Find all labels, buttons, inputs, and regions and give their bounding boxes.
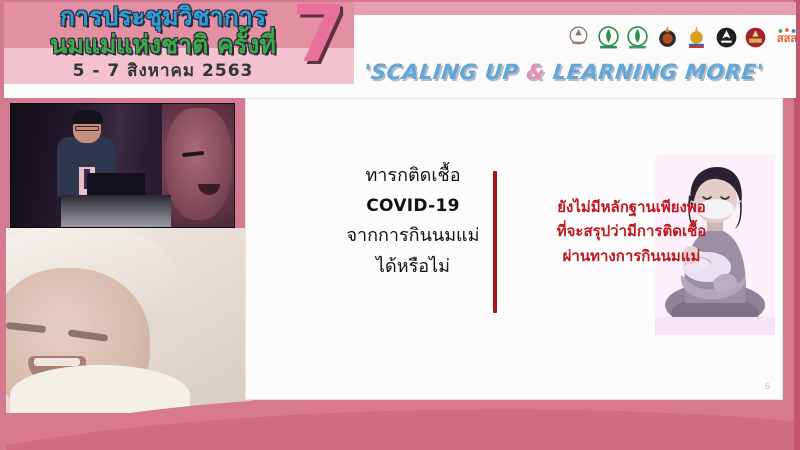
red-seal-logo <box>743 25 768 50</box>
red-vertical-divider <box>493 171 497 313</box>
banner-bottom-white <box>4 84 796 98</box>
answer-line-3: ผ่านทางการกินนมแม่ <box>504 244 759 268</box>
thaihealth-sss-logo: สสส <box>773 25 796 50</box>
presenter-hair <box>71 110 103 124</box>
question-line-1: ทารกติดเชื้อ <box>318 161 508 192</box>
slide-content: ทารกติดเชื้อ COVID-19 จากการกินนมแม่ ได้… <box>246 99 782 399</box>
organizer-logos-row: สสส <box>566 21 796 53</box>
presentation-slide: ทารกติดเชื้อ COVID-19 จากการกินนมแม่ ได้… <box>245 98 783 400</box>
conference-slogan: 'SCALING UP & LEARNING MORE' <box>363 60 796 84</box>
question-line-2: COVID-19 <box>318 192 508 221</box>
question-line-4: ได้หรือไม่ <box>318 252 508 283</box>
garuda-black-logo <box>714 25 739 50</box>
conference-title-line2: นมแม่แห่งชาติ ครั้งที่ <box>18 32 308 58</box>
conference-header-banner: 7 การประชุมวิชาการ นมแม่แห่งชาติ ครั้งที… <box>4 2 796 98</box>
slide-answer-text: ยังไม่มีหลักฐานเพียงพอ ที่จะสรุปว่ามีการ… <box>504 195 759 268</box>
answer-line-1: ยังไม่มีหลักฐานเพียงพอ <box>504 195 759 219</box>
answer-line-2: ที่จะสรุปว่ามีการติดเชื้อ <box>504 219 759 243</box>
speaker-podium <box>61 195 171 227</box>
conference-date: 5 - 7 สิงหาคม 2563 <box>18 63 308 81</box>
slide-question-text: ทารกติดเชื้อ COVID-19 จากการกินนมแม่ ได้… <box>318 161 508 283</box>
slide-page-number: 6 <box>765 382 770 391</box>
projected-baby-face <box>166 108 232 220</box>
conference-title-line1: การประชุมวิชาการ <box>18 4 308 30</box>
slogan-part-2: LEARNING MORE' <box>544 60 765 84</box>
royal-emblem-logo <box>566 25 591 50</box>
ministry-public-health-logo <box>596 25 621 50</box>
presenter-glasses <box>75 126 99 131</box>
conference-title-block: การประชุมวิชาการ นมแม่แห่งชาติ ครั้งที่ … <box>18 4 308 80</box>
svg-text:สสส: สสส <box>777 32 796 45</box>
royal-crown-logo <box>684 25 709 50</box>
slide-screenshot: 7 การประชุมวิชาการ นมแม่แห่งชาติ ครั้งที… <box>0 0 800 450</box>
presenter-video-feed[interactable] <box>10 103 235 228</box>
institute-seal-logo <box>655 25 680 50</box>
slogan-part-1: 'SCALING UP <box>363 60 528 84</box>
thai-breastfeeding-center-logo <box>625 25 650 50</box>
question-line-3: จากการกินนมแม่ <box>318 221 508 252</box>
